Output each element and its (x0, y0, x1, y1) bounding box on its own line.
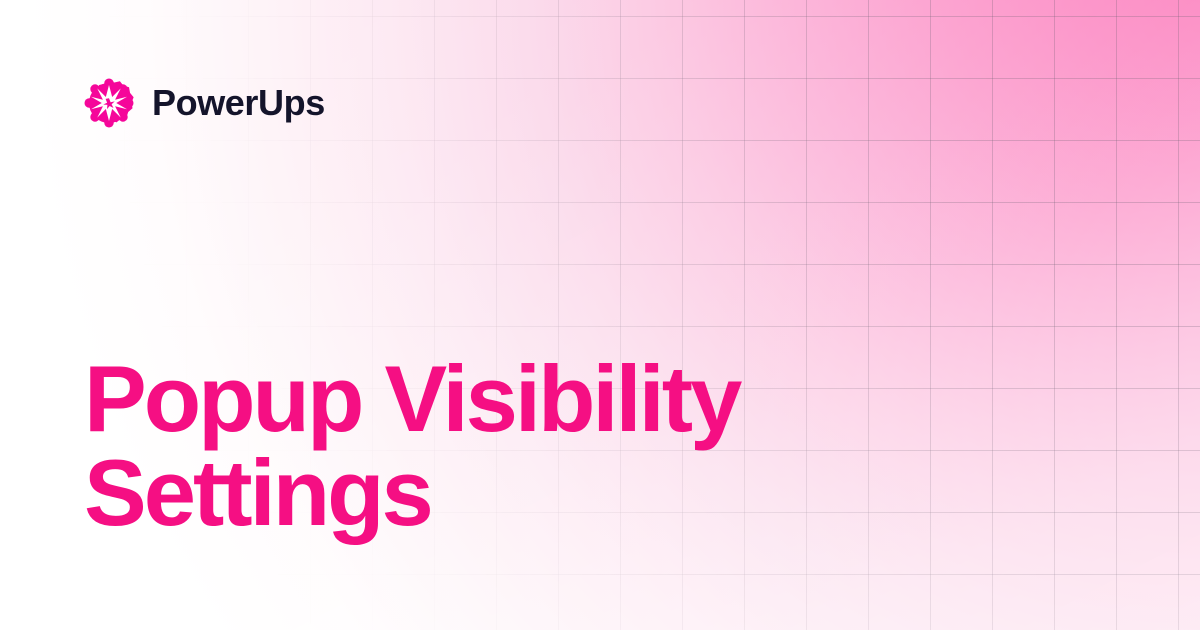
brand-name: PowerUps (152, 85, 325, 121)
og-card: PowerUps Popup Visibility Settings (0, 0, 1200, 630)
page-title: Popup Visibility Settings (84, 352, 1024, 540)
starburst-badge-icon (84, 78, 134, 128)
brand-lockup: PowerUps (84, 78, 325, 128)
